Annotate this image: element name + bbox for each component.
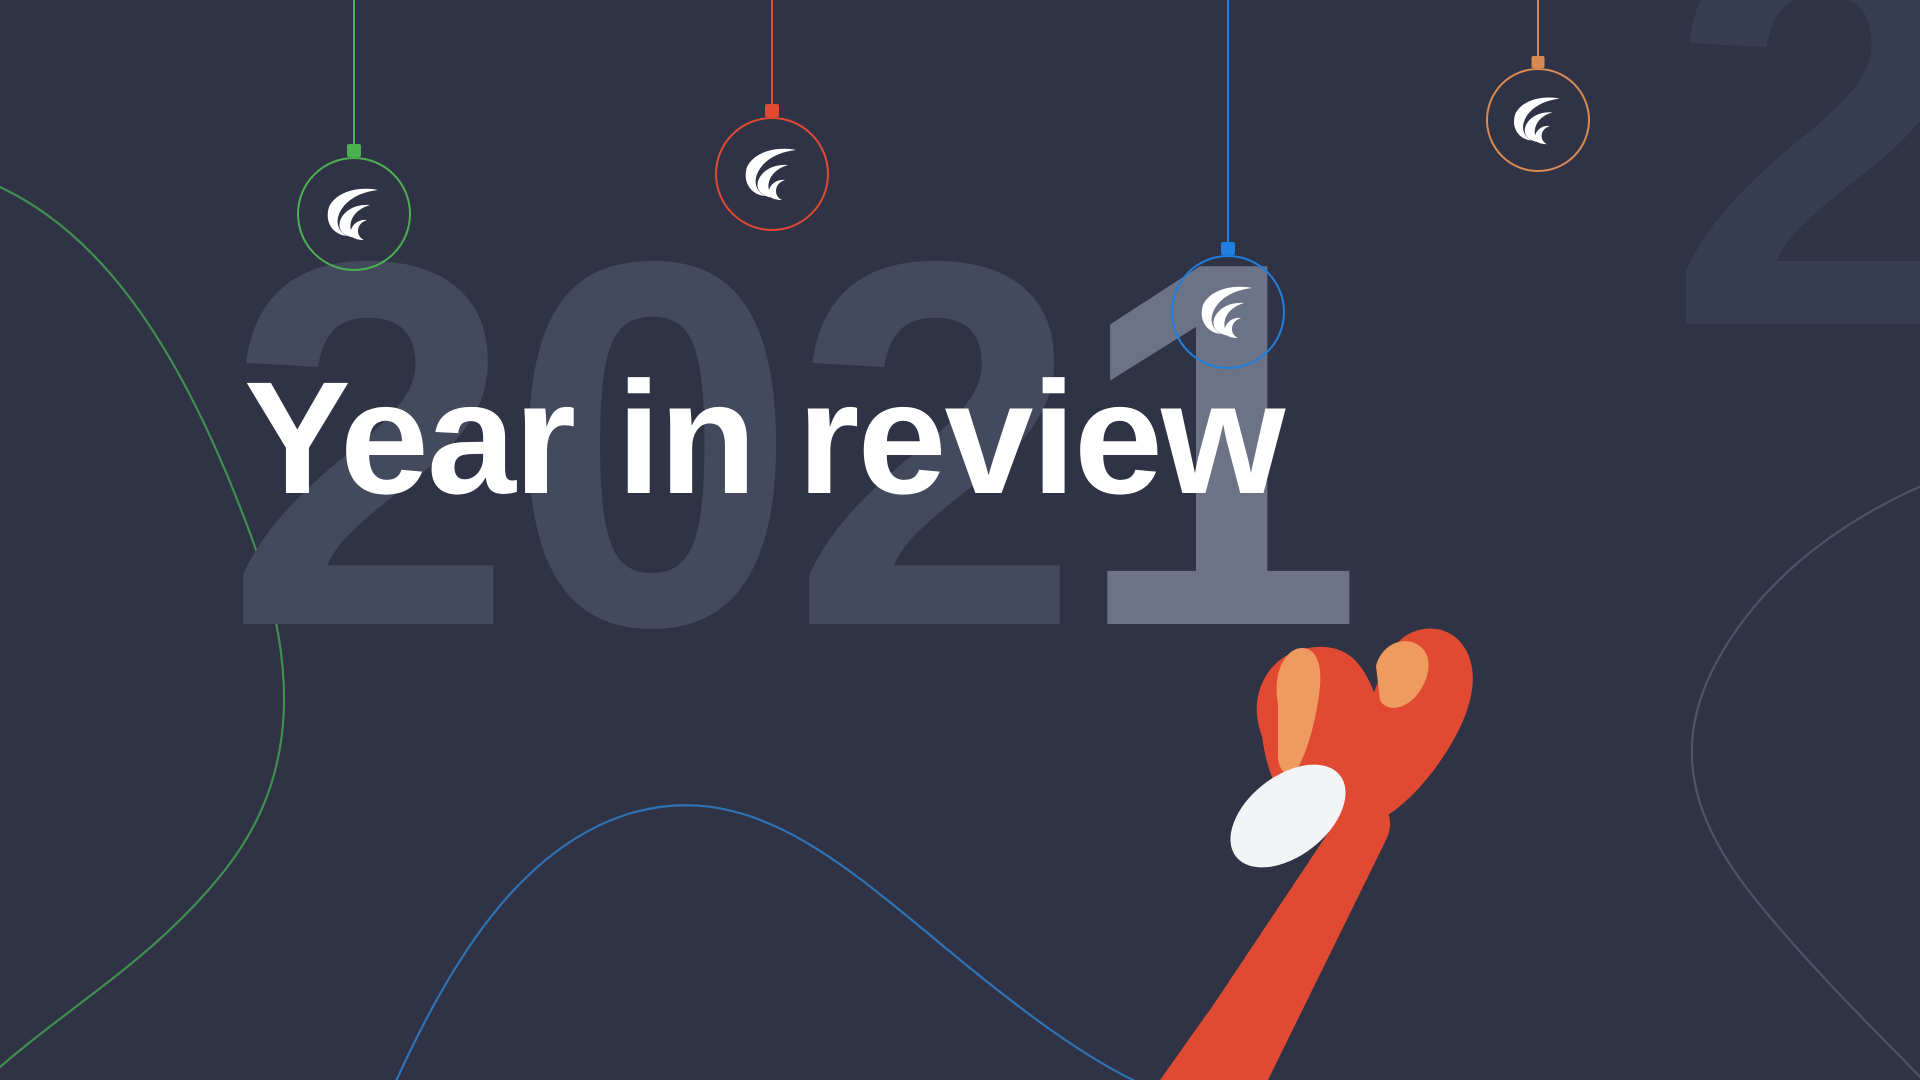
swiper-logo-icon <box>1194 283 1262 341</box>
page-title: Year in review <box>244 358 1283 518</box>
curve-blue-bottom <box>392 805 1160 1080</box>
swiper-logo-icon <box>1507 94 1569 147</box>
ornament-cap <box>1532 56 1545 68</box>
ornament-ball <box>1171 255 1285 369</box>
ornament-string <box>1227 0 1229 248</box>
swiper-logo-icon <box>738 145 806 203</box>
ornament-ball <box>715 117 829 231</box>
year-in-review-banner: 2 2021 Year in review <box>0 0 1920 1080</box>
ornament-cap <box>765 104 779 117</box>
ornament-cap <box>347 144 361 157</box>
ornament-string <box>771 0 773 110</box>
ornament-string <box>1537 0 1539 62</box>
santa-mitten <box>1150 600 1920 1080</box>
ornament-ball <box>297 157 411 271</box>
swiper-logo-icon <box>320 185 388 243</box>
ornament-cap <box>1221 242 1235 255</box>
ornament-ball <box>1486 68 1590 172</box>
ornament-string <box>353 0 355 150</box>
